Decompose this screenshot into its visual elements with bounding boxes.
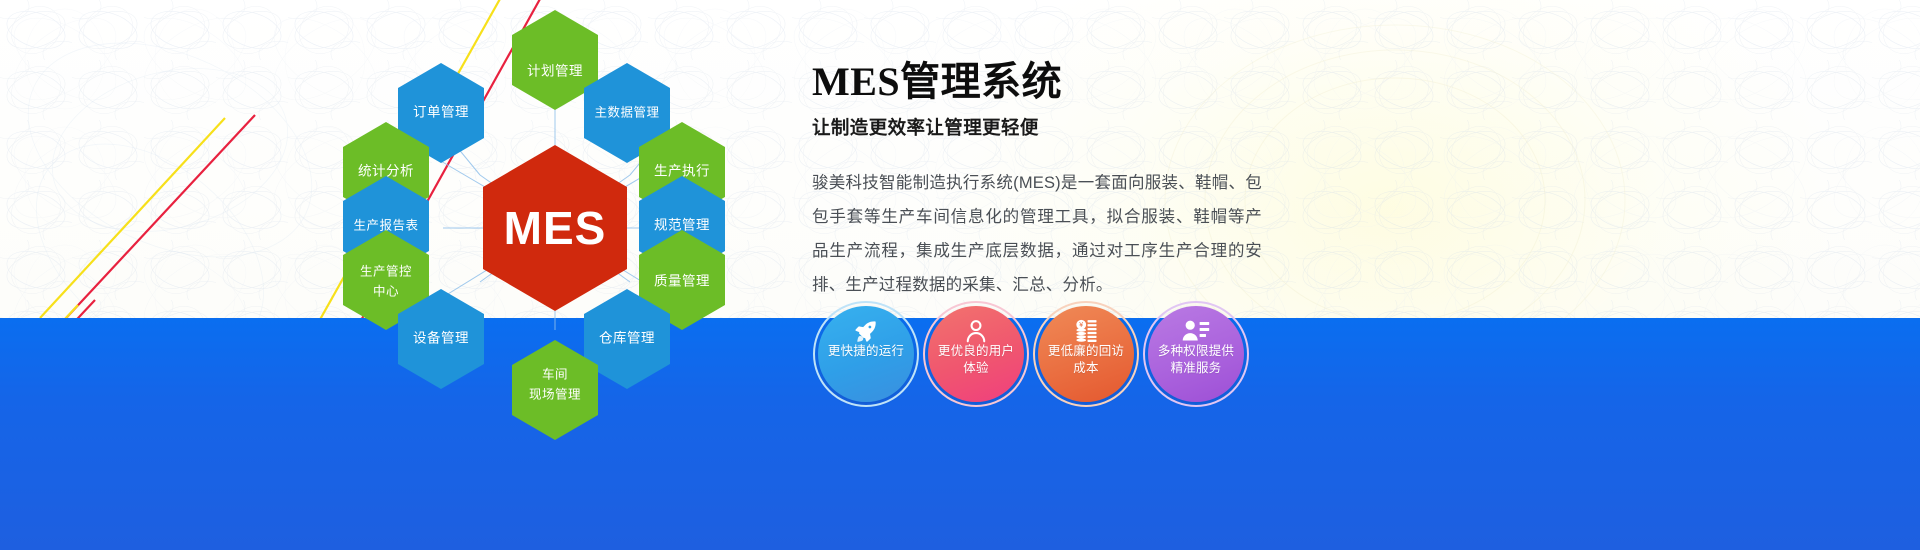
page-title: MES管理系统 xyxy=(812,60,1282,104)
hex-label-equipment: 设备管理 xyxy=(413,330,469,346)
user-icon xyxy=(961,318,991,344)
feature-badges: 更快捷的运行 更优良的用户体验 xyxy=(818,306,1244,402)
hex-label-workshop-1: 车间 xyxy=(542,366,568,381)
hex-label-warehouse: 仓库管理 xyxy=(599,331,655,346)
badge-label: 多种权限提供精准服务 xyxy=(1152,343,1240,377)
hex-label-order: 订单管理 xyxy=(413,105,469,120)
permission-icon xyxy=(1181,318,1211,344)
hex-center-label: MES xyxy=(504,202,607,254)
hex-label-masterdata: 主数据管理 xyxy=(594,104,659,119)
badge-better-user-experience[interactable]: 更优良的用户体验 xyxy=(928,306,1024,402)
rocket-icon xyxy=(851,318,881,344)
hex-label-control-1: 生产管控 xyxy=(360,263,412,278)
badge-label: 更低廉的回访成本 xyxy=(1042,343,1130,377)
badge-lower-revisit-cost[interactable]: ¥ 更低廉的回访成本 xyxy=(1038,306,1134,402)
badge-label: 更快捷的运行 xyxy=(822,343,910,360)
badge-label: 更优良的用户体验 xyxy=(932,343,1020,377)
page-subtitle: 让制造更效率让管理更轻便 xyxy=(812,114,1282,140)
money-icon: ¥ xyxy=(1071,318,1101,344)
mes-banner: 计划管理 订单管理 主数据管理 统计分析 生产执行 xyxy=(0,0,1920,550)
hex-node-center-mes[interactable]: MES xyxy=(483,145,627,311)
badge-faster-operation[interactable]: 更快捷的运行 xyxy=(818,306,914,402)
description-paragraph: 骏美科技智能制造执行系统(MES)是一套面向服装、鞋帽、包包手套等生产车间信息化… xyxy=(812,166,1262,302)
mes-hexagon-diagram: 计划管理 订单管理 主数据管理 统计分析 生产执行 xyxy=(330,10,800,450)
content-block: MES管理系统 让制造更效率让管理更轻便 骏美科技智能制造执行系统(MES)是一… xyxy=(812,60,1282,302)
badge-multi-permission[interactable]: 多种权限提供精准服务 xyxy=(1148,306,1244,402)
svg-text:¥: ¥ xyxy=(1079,322,1083,329)
hex-label-quality: 质量管理 xyxy=(654,274,710,289)
hex-label-control-2: 中心 xyxy=(373,283,399,298)
hex-label-workshop-2: 现场管理 xyxy=(529,386,581,401)
hex-label-plan: 计划管理 xyxy=(527,64,583,79)
